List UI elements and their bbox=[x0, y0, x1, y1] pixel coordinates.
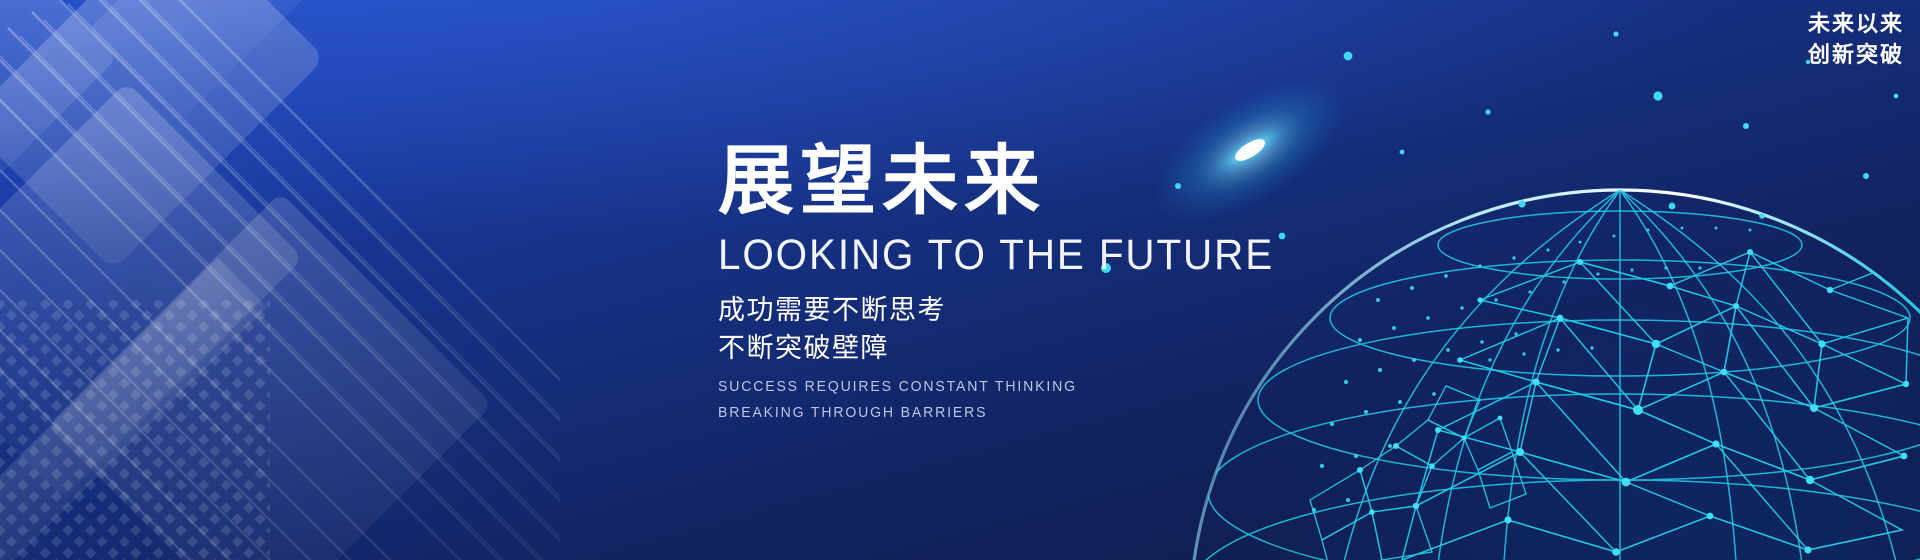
subtitle-cn-line-1: 成功需要不断思考 bbox=[718, 291, 1478, 329]
corner-slogan-line-1: 未来以来 bbox=[1808, 8, 1904, 39]
banner-root: 展望未来 LOOKING TO THE FUTURE 成功需要不断思考 不断突破… bbox=[0, 0, 1920, 560]
subtitle-cn-line-2: 不断突破壁障 bbox=[718, 329, 1478, 367]
page-title-cn: 展望未来 bbox=[718, 142, 1478, 223]
left-geometric-pattern bbox=[0, 0, 560, 560]
corner-slogan-line-2: 创新突破 bbox=[1808, 39, 1904, 70]
subtitle-en-line-1: SUCCESS REQUIRES CONSTANT THINKING bbox=[718, 375, 1455, 400]
headline-text-block: 展望未来 LOOKING TO THE FUTURE 成功需要不断思考 不断突破… bbox=[718, 142, 1478, 426]
subtitle-en-line-2: BREAKING THROUGH BARRIERS bbox=[718, 401, 1455, 426]
page-title-en: LOOKING TO THE FUTURE bbox=[718, 233, 1432, 278]
corner-slogan: 未来以来 创新突破 bbox=[1808, 8, 1904, 70]
